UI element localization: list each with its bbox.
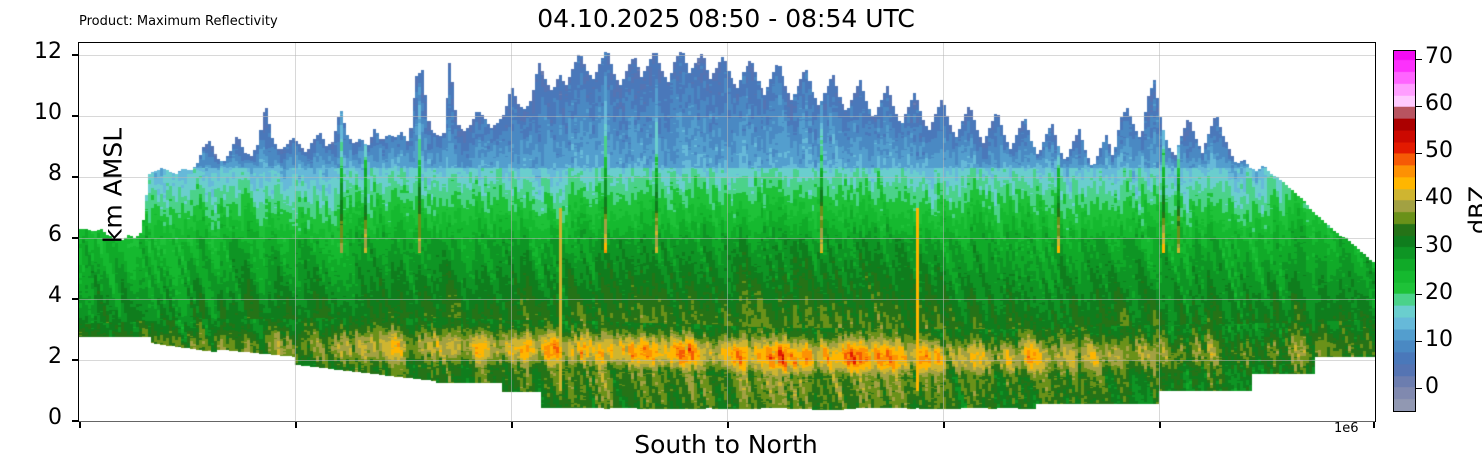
y-axis-tick-label: 8 [16,161,62,186]
x-axis-offset-text: 1e6 [1334,421,1359,436]
colorbar-tick [1416,106,1422,108]
reflectivity-heatmap [79,43,1375,421]
x-axis-tick [1373,422,1375,428]
y-axis-label: km AMSL [99,106,128,266]
x-axis-label: South to North [78,430,1374,459]
x-axis-tick [511,422,513,428]
colorbar-unit-label: dBZ [1464,175,1482,245]
y-axis-tick [72,359,78,361]
y-axis-tick-label: 12 [16,39,62,64]
y-axis-tick-label: 10 [16,100,62,125]
x-axis-tick [727,422,729,428]
y-axis-tick [72,176,78,178]
colorbar-tick-label: 60 [1425,91,1453,116]
y-axis-tick [72,298,78,300]
colorbar-tick-label: 70 [1425,44,1453,69]
colorbar-tick-label: 20 [1425,280,1453,305]
colorbar-tick-label: 0 [1425,374,1439,399]
radar-cross-section-figure: Product: Maximum Reflectivity 04.10.2025… [0,0,1482,470]
y-axis-tick-label: 2 [16,344,62,369]
colorbar-tick [1416,59,1422,61]
colorbar-tick [1416,200,1422,202]
y-axis-tick [72,237,78,239]
colorbar-tick-label: 50 [1425,138,1453,163]
colorbar-tick-label: 40 [1425,185,1453,210]
colorbar-tick [1416,153,1422,155]
y-axis-tick [72,115,78,117]
colorbar-tick [1416,294,1422,296]
colorbar-tick [1416,247,1422,249]
y-axis-tick [72,54,78,56]
plot-area: km AMSL [78,42,1376,422]
colorbar-tick [1416,388,1422,390]
colorbar-tick-label: 30 [1425,233,1453,258]
y-axis-tick-label: 0 [16,405,62,430]
x-axis-tick [79,422,81,428]
colorbar-tick-label: 10 [1425,327,1453,352]
colorbar: 010203040506070 [1393,50,1416,412]
x-axis-tick [1159,422,1161,428]
x-axis-tick [295,422,297,428]
colorbar-gradient [1393,50,1416,412]
colorbar-tick [1416,341,1422,343]
x-axis-tick [943,422,945,428]
y-axis-tick-label: 4 [16,283,62,308]
plot-clip [79,43,1375,421]
y-axis-tick-label: 6 [16,222,62,247]
y-axis-tick [72,420,78,422]
page-title: 04.10.2025 08:50 - 08:54 UTC [78,4,1374,33]
